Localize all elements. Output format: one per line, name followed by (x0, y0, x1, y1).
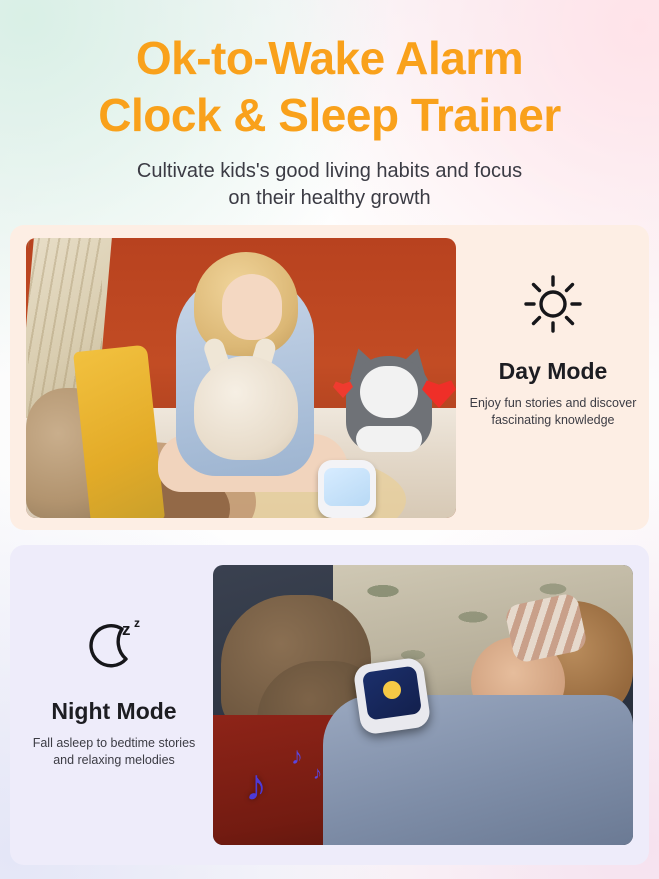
cat-paws (356, 426, 422, 452)
promo-page: Ok-to-Wake Alarm Clock & Sleep Trainer C… (0, 0, 659, 879)
svg-text:z: z (122, 620, 131, 639)
page-subtitle-line-2: on their healthy growth (228, 187, 430, 209)
cat-face (360, 366, 418, 418)
night-mode-description-line-2: and relaxing melodies (53, 753, 175, 767)
moon-z-icon: z z (16, 613, 212, 680)
music-note-small-icon: ♪ (313, 763, 322, 784)
day-mode-description-line-2: fascinating knowledge (492, 413, 615, 427)
svg-text:z: z (134, 616, 140, 630)
night-mode-text: z z Night Mode Fall asleep to bedtime st… (16, 613, 212, 769)
night-mode-card: z z Night Mode Fall asleep to bedtime st… (10, 545, 649, 865)
night-mode-title: Night Mode (16, 698, 212, 725)
plush-bunny (194, 356, 298, 460)
night-mode-description: Fall asleep to bedtime stories and relax… (24, 735, 204, 769)
music-note-large-icon: ♪ (245, 761, 267, 811)
page-subtitle-line-1: Cultivate kids's good living habits and … (137, 160, 522, 182)
night-mode-description-line-1: Fall asleep to bedtime stories (33, 736, 196, 750)
yellow-blanket (73, 345, 165, 518)
header: Ok-to-Wake Alarm Clock & Sleep Trainer C… (0, 0, 659, 212)
girl-face (222, 274, 282, 340)
day-mode-description-line-1: Enjoy fun stories and discover (470, 396, 637, 410)
music-note-medium-icon: ♪ (291, 743, 303, 771)
page-title-line-1: Ok-to-Wake Alarm (136, 32, 523, 84)
day-mode-photo (26, 238, 456, 518)
night-scene-illustration: ♪ ♪ ♪ (213, 565, 633, 845)
alarm-clock-night-indicator (383, 681, 401, 699)
page-title: Ok-to-Wake Alarm Clock & Sleep Trainer (30, 30, 630, 144)
page-title-line-2: Clock & Sleep Trainer (30, 87, 630, 144)
sun-icon (460, 273, 646, 340)
day-mode-description: Enjoy fun stories and discover fascinati… (463, 395, 643, 429)
day-scene-illustration (26, 238, 456, 518)
night-mode-photo: ♪ ♪ ♪ (213, 565, 633, 845)
alarm-clock-screen (324, 468, 370, 506)
day-mode-title: Day Mode (460, 358, 646, 385)
page-subtitle: Cultivate kids's good living habits and … (60, 158, 600, 212)
day-mode-card: Day Mode Enjoy fun stories and discover … (10, 225, 649, 530)
day-mode-text: Day Mode Enjoy fun stories and discover … (460, 273, 646, 429)
